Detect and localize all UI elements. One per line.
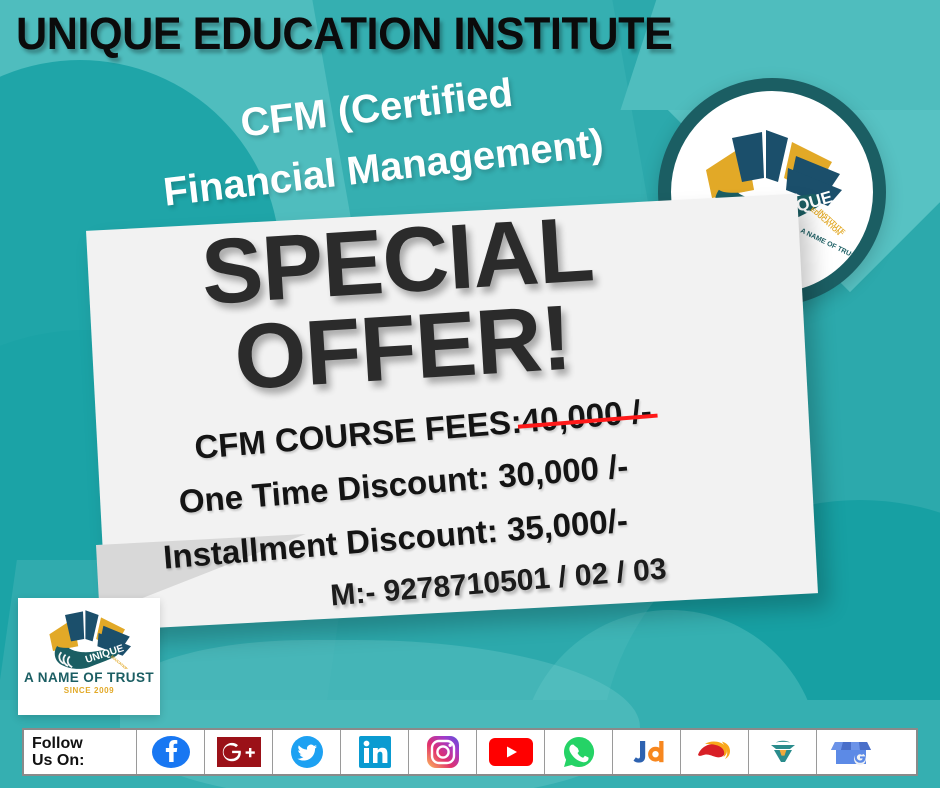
social-link-twitter[interactable] — [273, 730, 341, 774]
justdial-icon — [622, 736, 672, 768]
social-link-indiamart[interactable] — [749, 730, 817, 774]
badge-since: SINCE 2009 — [64, 686, 114, 695]
social-link-youtube[interactable] — [477, 730, 545, 774]
follow-us-line1: Follow — [32, 735, 84, 752]
social-link-linkedin[interactable] — [341, 730, 409, 774]
special-offer-headline: SPECIAL OFFER! — [125, 202, 675, 409]
social-link-google-plus[interactable] — [205, 730, 273, 774]
one-time-discount-value: 30,000 /- — [497, 448, 630, 495]
unique-handshake-book-logo-icon: UNIQUE EDUCATION — [37, 603, 141, 669]
follow-us-label: Follow Us On: — [24, 730, 137, 774]
svg-text:EDUCATION: EDUCATION — [110, 655, 129, 669]
social-follow-bar: Follow Us On: — [22, 728, 918, 776]
social-link-sulekha[interactable] — [681, 730, 749, 774]
institute-title: UNIQUE EDUCATION INSTITUTE — [16, 8, 672, 60]
badge-tagline: A NAME OF TRUST — [24, 670, 154, 685]
social-link-whatsapp[interactable] — [545, 730, 613, 774]
whatsapp-icon — [561, 735, 597, 769]
promotional-poster: UNIQUE EDUCATION INSTITUTE CFM (Certifie… — [0, 0, 940, 788]
social-link-google-my-business[interactable] — [817, 730, 884, 774]
google-my-business-icon — [829, 736, 873, 768]
google-plus-icon — [215, 736, 263, 768]
course-fees-value: 40,000 /- — [520, 384, 654, 448]
linkedin-icon — [357, 735, 393, 769]
follow-us-line2: Us On: — [32, 752, 84, 769]
instagram-icon — [425, 735, 461, 769]
youtube-icon — [487, 735, 535, 769]
indiamart-icon — [763, 736, 803, 768]
social-link-instagram[interactable] — [409, 730, 477, 774]
logo-badge: UNIQUE EDUCATION A NAME OF TRUST SINCE 2… — [18, 598, 160, 715]
social-link-facebook[interactable] — [137, 730, 205, 774]
installment-discount-value: 35,000/- — [505, 501, 629, 548]
facebook-icon — [151, 734, 191, 770]
social-link-justdial[interactable] — [613, 730, 681, 774]
sulekha-icon — [692, 736, 738, 768]
twitter-icon — [288, 734, 326, 770]
